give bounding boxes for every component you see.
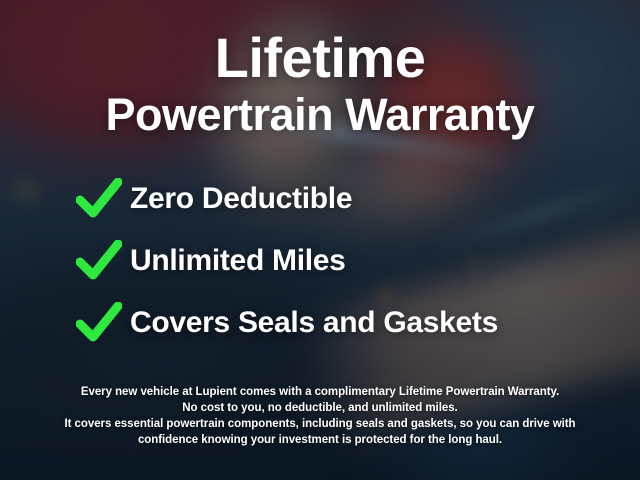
disclaimer-paragraph: Every new vehicle at Lupient comes with … bbox=[0, 384, 640, 448]
benefit-item-unlimited-miles: Unlimited Miles bbox=[76, 230, 640, 292]
paragraph-line-1: Every new vehicle at Lupient comes with … bbox=[34, 384, 606, 400]
green-checkmark-icon bbox=[76, 240, 122, 282]
green-checkmark-icon bbox=[76, 178, 122, 220]
benefit-label: Zero Deductible bbox=[130, 182, 352, 216]
benefit-item-covers-seals-and-gaskets: Covers Seals and Gaskets bbox=[76, 292, 640, 354]
headline-line-2: Powertrain Warranty bbox=[0, 90, 640, 140]
benefit-item-zero-deductible: Zero Deductible bbox=[76, 168, 640, 230]
paragraph-line-4: confidence knowing your investment is pr… bbox=[34, 432, 606, 448]
paragraph-line-3: It covers essential powertrain component… bbox=[34, 416, 606, 432]
green-checkmark-icon bbox=[76, 302, 122, 344]
paragraph-line-2: No cost to you, no deductible, and unlim… bbox=[34, 400, 606, 416]
benefit-label: Unlimited Miles bbox=[130, 244, 346, 278]
benefits-list: Zero Deductible Unlimited Miles Covers S… bbox=[0, 168, 640, 354]
lifetime-powertrain-warranty-banner: Lifetime Powertrain Warranty Zero Deduct… bbox=[0, 0, 640, 480]
banner-content: Lifetime Powertrain Warranty Zero Deduct… bbox=[0, 0, 640, 480]
headline-line-1: Lifetime bbox=[0, 28, 640, 88]
benefit-label: Covers Seals and Gaskets bbox=[130, 306, 498, 340]
